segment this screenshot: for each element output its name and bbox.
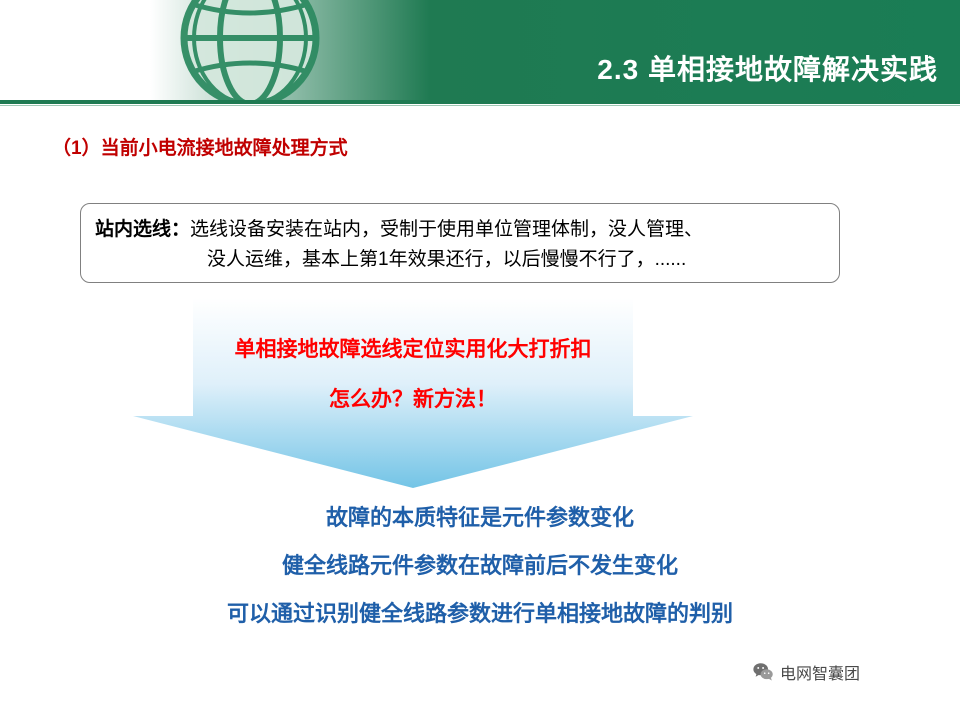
- note-box-text: 站内选线：选线设备安装在站内，受制于使用单位管理体制，没人管理、 没人运维，基本…: [95, 215, 829, 275]
- watermark-text: 电网智囊团: [780, 660, 860, 684]
- note-box-line1: 选线设备安装在站内，受制于使用单位管理体制，没人管理、: [190, 219, 703, 240]
- note-box-line2: 没人运维，基本上第1年效果还行，以后慢慢不行了，......: [95, 245, 829, 275]
- watermark: 电网智囊团: [752, 660, 860, 684]
- slide-header: 2.3 单相接地故障解决实践: [0, 0, 960, 100]
- conclusion-line-1: 故障的本质特征是元件参数变化: [0, 500, 960, 532]
- note-box-label: 站内选线：: [95, 219, 190, 240]
- conclusion-line-3: 可以通过识别健全线路参数进行单相接地故障的判别: [0, 596, 960, 628]
- header-divider: [0, 100, 960, 104]
- page-title: 2.3 单相接地故障解决实践: [597, 48, 938, 88]
- note-box: 站内选线：选线设备安装在站内，受制于使用单位管理体制，没人管理、 没人运维，基本…: [80, 203, 840, 283]
- globe-icon: [150, 0, 350, 100]
- wechat-icon: [752, 661, 774, 683]
- arrow-text-line2: 怎么办？新方法！: [133, 383, 693, 413]
- down-arrow-callout: 单相接地故障选线定位实用化大打折扣 怎么办？新方法！: [133, 298, 693, 488]
- section-label: （1）当前小电流接地故障处理方式: [52, 133, 348, 160]
- header-divider-thin: [0, 105, 960, 106]
- arrow-text-line1: 单相接地故障选线定位实用化大打折扣: [133, 333, 693, 363]
- conclusion-line-2: 健全线路元件参数在故障前后不发生变化: [0, 548, 960, 580]
